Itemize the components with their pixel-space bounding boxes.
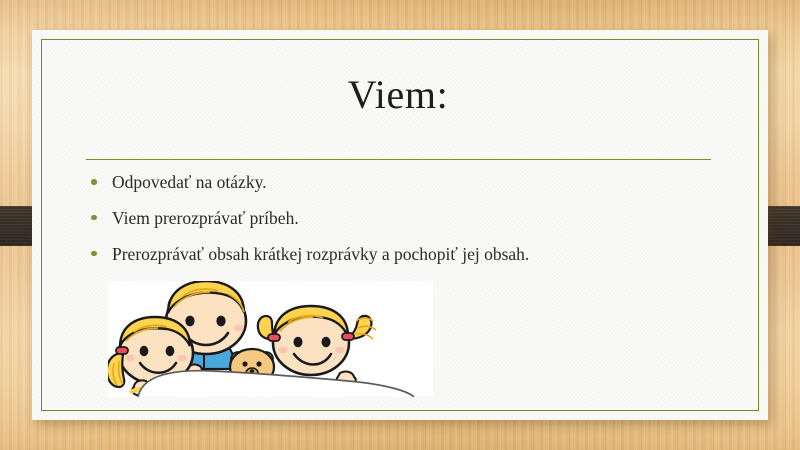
bullet-dot-icon bbox=[91, 251, 97, 257]
slide-canvas: Viem: Odpovedať na otázky. Viem prerozpr… bbox=[0, 0, 800, 450]
title-block: Viem: bbox=[60, 72, 736, 118]
list-item-label: Odpovedať na otázky. bbox=[112, 172, 267, 192]
list-item-label: Prerozprávať obsah krátkej rozprávky a p… bbox=[112, 244, 529, 264]
page-title: Viem: bbox=[60, 72, 736, 118]
bullet-dot-icon bbox=[91, 215, 97, 221]
title-divider-rule bbox=[86, 159, 711, 160]
children-clipart-image bbox=[108, 281, 433, 397]
list-item: Viem prerozprávať príbeh. bbox=[86, 206, 706, 231]
list-item: Odpovedať na otázky. bbox=[86, 170, 706, 195]
list-item: Prerozprávať obsah krátkej rozprávky a p… bbox=[86, 242, 706, 267]
bullet-dot-icon bbox=[91, 179, 97, 185]
bullet-list: Odpovedať na otázky. Viem prerozprávať p… bbox=[86, 170, 706, 278]
list-item-label: Viem prerozprávať príbeh. bbox=[112, 208, 299, 228]
